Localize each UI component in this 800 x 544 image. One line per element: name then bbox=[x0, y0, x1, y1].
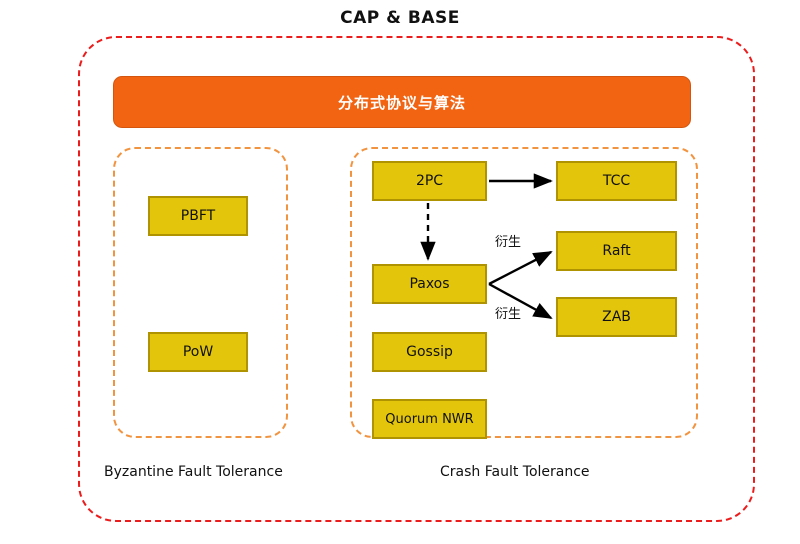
header-banner: 分布式协议与算法 bbox=[113, 76, 691, 128]
header-banner-label: 分布式协议与算法 bbox=[338, 92, 466, 113]
node-paxos[interactable]: Paxos bbox=[372, 264, 487, 304]
node-tcc[interactable]: TCC bbox=[556, 161, 677, 201]
node-raft[interactable]: Raft bbox=[556, 231, 677, 271]
caption-byzantine-fault-tolerance: Byzantine Fault Tolerance bbox=[104, 464, 283, 480]
diagram-title: CAP & BASE bbox=[0, 8, 800, 28]
diagram-canvas: CAP & BASE 分布式协议与算法 衍生 衍生 PBFT PoW 2PC P… bbox=[0, 0, 800, 544]
node-pbft[interactable]: PBFT bbox=[148, 196, 248, 236]
caption-crash-fault-tolerance: Crash Fault Tolerance bbox=[440, 464, 590, 480]
edge-label-paxos-zab: 衍生 bbox=[495, 303, 521, 322]
edge-label-paxos-raft: 衍生 bbox=[495, 231, 521, 250]
node-2pc[interactable]: 2PC bbox=[372, 161, 487, 201]
node-pow[interactable]: PoW bbox=[148, 332, 248, 372]
group-box-byzantine bbox=[113, 147, 288, 438]
node-gossip[interactable]: Gossip bbox=[372, 332, 487, 372]
node-zab[interactable]: ZAB bbox=[556, 297, 677, 337]
node-quorum-nwr[interactable]: Quorum NWR bbox=[372, 399, 487, 439]
